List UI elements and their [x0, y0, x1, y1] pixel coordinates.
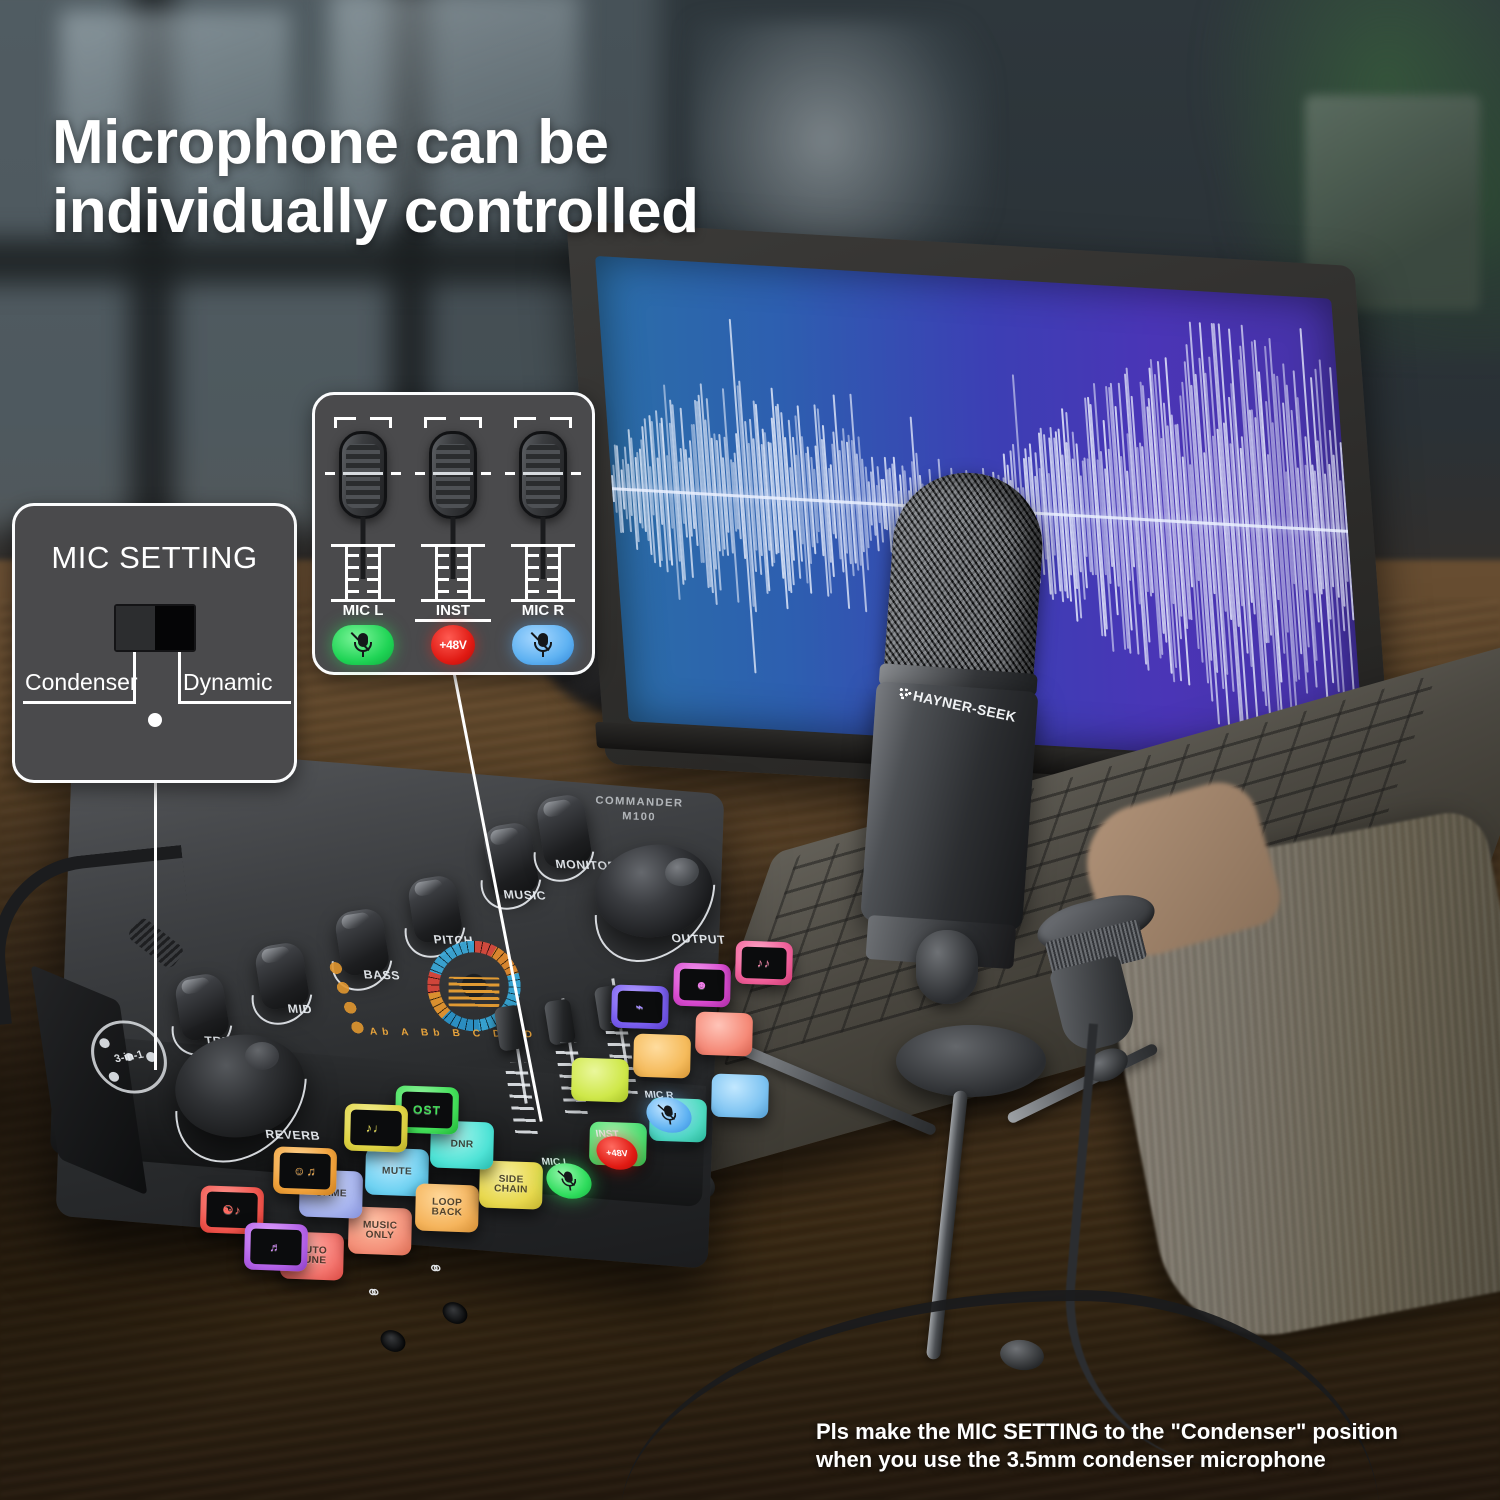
pad-ost-screen: OST [401, 1091, 453, 1128]
effects-bars-icon [449, 976, 500, 1006]
brand-dots-icon [897, 687, 912, 700]
callout-label-mic-r: MIC R [509, 602, 577, 619]
effects-display [403, 937, 546, 1034]
callout-fader-mic-r[interactable] [509, 417, 577, 607]
callout-label-inst: INST [419, 602, 487, 619]
pad-icon-violet-screen: ♬ [250, 1228, 302, 1265]
mic-setting-switch[interactable] [114, 604, 196, 652]
knob-mid-label: MID [287, 1002, 313, 1017]
mic-setting-option-dynamic[interactable]: Dynamic [183, 669, 272, 696]
pad-grid-indigo[interactable]: ⌁ [611, 984, 669, 1029]
switch-leader-right-h [178, 701, 291, 704]
fader-midline-1 [325, 472, 401, 475]
pad-icon-yellow-screen: ♪♩ [350, 1109, 402, 1146]
caption-line-2: when you use the 3.5mm condenser microph… [816, 1446, 1476, 1474]
switch-half-left [116, 606, 155, 650]
mic-mute-icon [353, 633, 373, 657]
callout-button-mic-l[interactable] [332, 625, 394, 665]
device-brand-line2: M100 [622, 810, 656, 823]
pad-dnr-label: DNR [450, 1139, 473, 1150]
mic-mute-icon [659, 1105, 678, 1125]
tripod-pivot-knob[interactable] [916, 930, 978, 1004]
device-brand-line1: COMMANDER [595, 795, 683, 810]
fader-knob-2[interactable] [429, 431, 477, 519]
fader-top-marks-1 [334, 417, 392, 420]
switch-leader-right-v [178, 652, 181, 704]
device-brand: COMMANDER M100 [595, 794, 684, 826]
pad-grid-rose[interactable] [695, 1011, 753, 1056]
output-dial-label: OUTPUT [670, 931, 726, 947]
pad-icon-orange-screen: ☺♫ [279, 1152, 331, 1189]
mic-grille [883, 468, 1047, 688]
headphone-icon-2: ⚭ [426, 1258, 446, 1281]
fader-callout: MIC L INST MIC R +48V [312, 392, 595, 675]
pad-loop-back[interactable]: LOOPBACK [415, 1183, 479, 1232]
callout-fader-inst[interactable] [419, 417, 487, 607]
fader-scale-2 [421, 544, 485, 606]
fader-top-marks-3 [514, 417, 572, 420]
pad-icon-yellow[interactable]: ♪♩ [344, 1103, 408, 1152]
pad-grid-pink-screen: ♪♪ [741, 947, 787, 980]
pad-grid-magenta[interactable]: ☻ [673, 962, 731, 1007]
pad-grid-lime[interactable] [571, 1057, 629, 1102]
headline-line-1: Microphone can be [52, 108, 952, 177]
mic-mute-icon [559, 1171, 578, 1191]
mic-setting-callout: MIC SETTING Condenser Dynamic [12, 503, 297, 783]
footer-caption: Pls make the MIC SETTING to the "Condens… [816, 1418, 1476, 1474]
leader-origin-dot [148, 713, 162, 727]
switch-half-right [155, 606, 194, 650]
callout-button-inst[interactable]: +48V [431, 625, 475, 665]
pad-side-chain-label: SIDECHAIN [494, 1174, 528, 1196]
caption-line-1: Pls make the MIC SETTING to the "Condens… [816, 1418, 1476, 1446]
device-inst-value: +48V [605, 1148, 628, 1159]
callout-button-mic-r[interactable] [512, 625, 574, 665]
reverb-dial-label: REVERB [264, 1127, 321, 1143]
pad-grid-pink[interactable]: ♪♪ [735, 940, 793, 985]
knob-music-label: MUSIC [503, 887, 548, 902]
headphone-icon-1: ⚭ [364, 1282, 384, 1305]
headline-line-2: individually controlled [52, 177, 952, 246]
mic-mute-icon [533, 633, 553, 657]
mic-setting-option-condenser[interactable]: Condenser [25, 669, 138, 696]
fader-midline-3 [505, 472, 581, 475]
callout-label-mic-l: MIC L [329, 602, 397, 619]
page-title: Microphone can be individually controlle… [52, 108, 952, 247]
phantom-power-value: +48V [439, 638, 466, 652]
fader-scale-1 [331, 544, 395, 606]
mic-setting-title: MIC SETTING [15, 540, 294, 576]
switch-leader-left-h [23, 701, 136, 704]
fader-scale-3 [511, 544, 575, 606]
fader-knob-1[interactable] [339, 431, 387, 519]
pad-icon-violet[interactable]: ♬ [244, 1222, 308, 1271]
pad-ost-label: OST [413, 1103, 441, 1116]
fader-knob-3[interactable] [519, 431, 567, 519]
inst-underline [415, 619, 491, 622]
pad-grid-indigo-screen: ⌁ [617, 991, 663, 1024]
badge-label: 3-in-1 [113, 1049, 145, 1066]
callout-fader-mic-l[interactable] [329, 417, 397, 607]
pad-grid-sky[interactable] [711, 1073, 769, 1118]
fader-midline-2 [415, 472, 491, 475]
tripod-hub [896, 1025, 1046, 1097]
fader-top-marks-2 [424, 417, 482, 420]
pad-mute-label: MUTE [382, 1166, 412, 1177]
pad-loop-back-label: LOOPBACK [431, 1197, 462, 1219]
pad-grid-magenta-screen: ☻ [679, 969, 725, 1002]
pad-icon-orange[interactable]: ☺♫ [273, 1146, 337, 1195]
pad-grid-amber[interactable] [633, 1033, 691, 1078]
pad-music-only-label: MUSICONLY [363, 1220, 398, 1242]
